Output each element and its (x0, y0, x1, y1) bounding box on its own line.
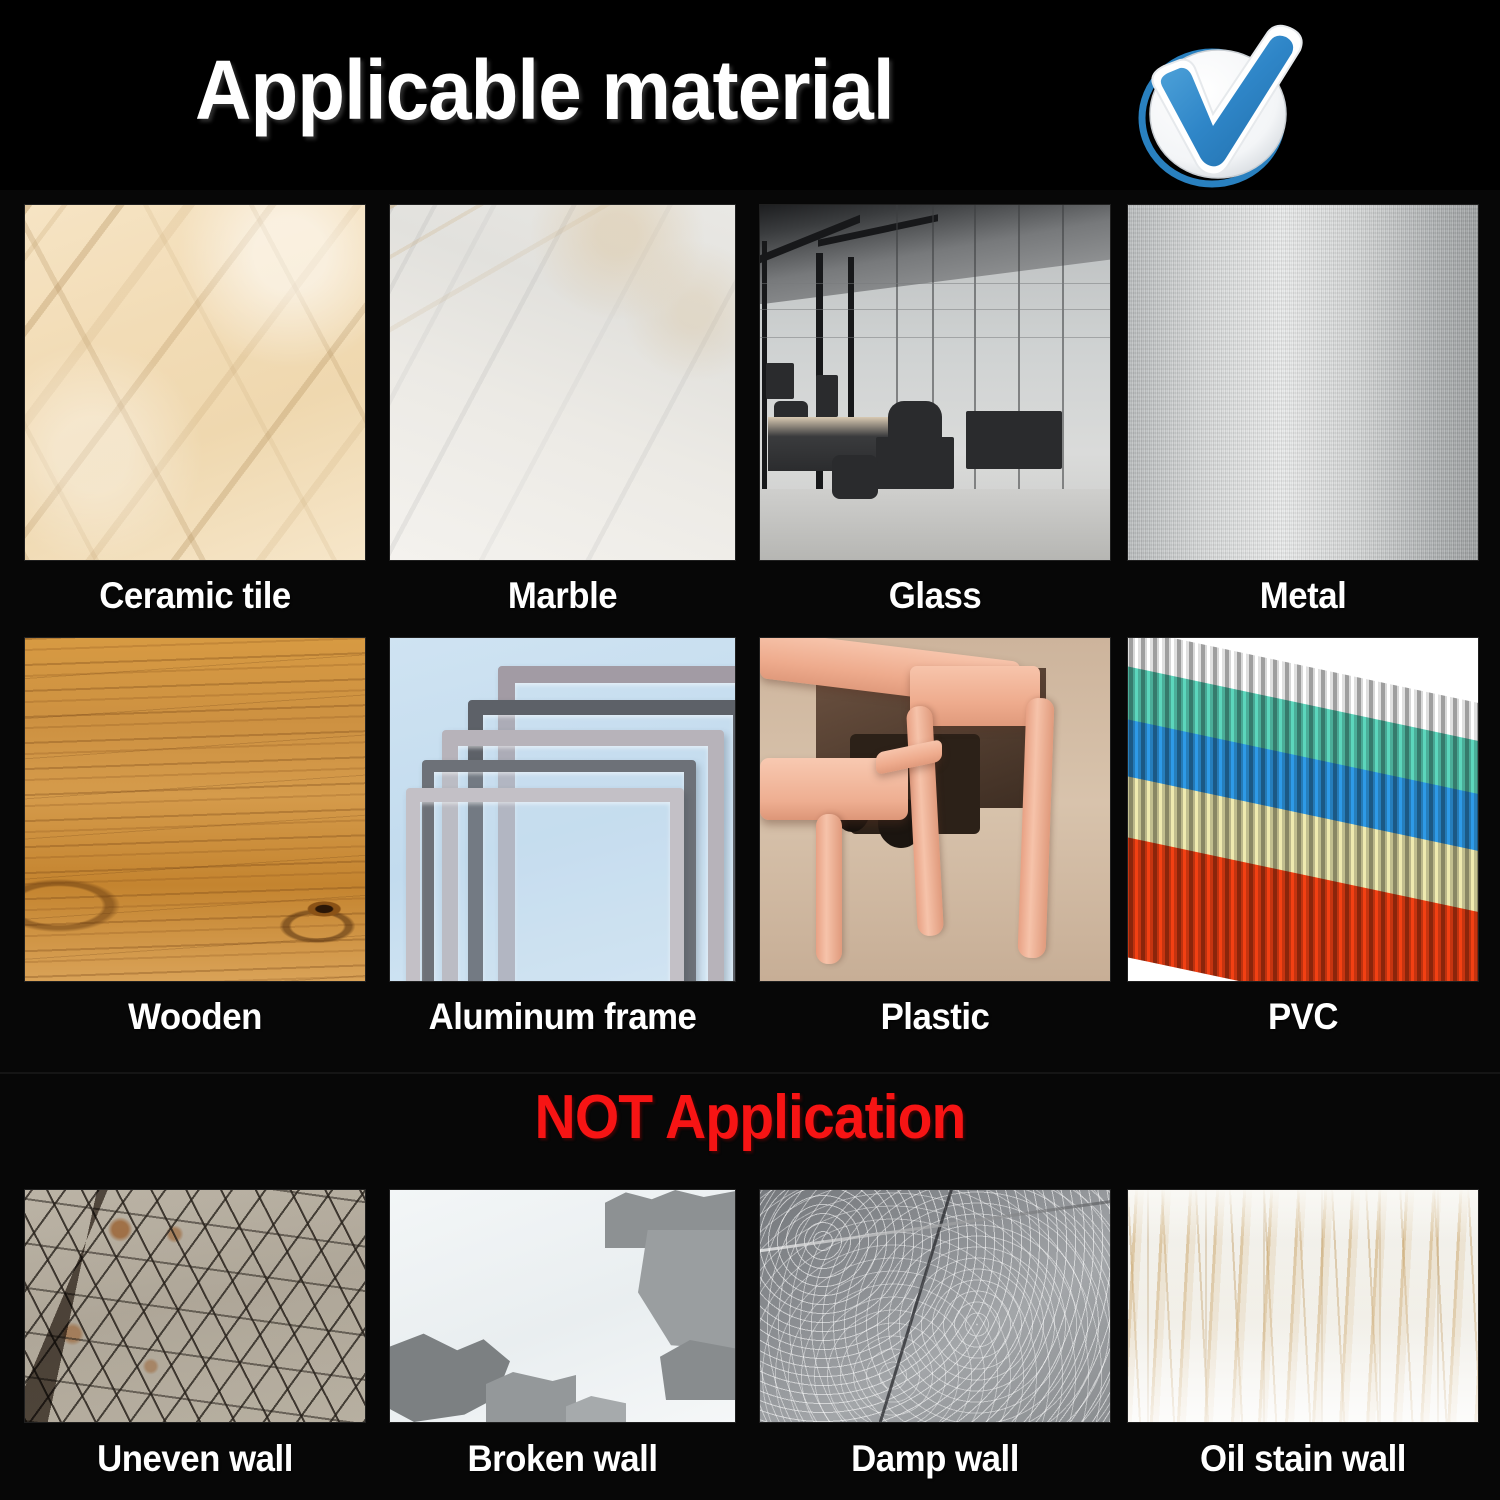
material-label-metal: Metal (1139, 575, 1468, 617)
material-label-broken-wall: Broken wall (400, 1438, 724, 1480)
not-applicable-row: Uneven wall Broken wall (0, 1190, 1500, 1500)
oil-stain-wall-thumbnail[interactable] (1128, 1190, 1478, 1422)
material-label-uneven-wall: Uneven wall (35, 1438, 355, 1480)
material-label-marble: Marble (400, 575, 724, 617)
marble-thumbnail[interactable] (390, 205, 735, 560)
material-label-ceramic-tile: Ceramic tile (35, 575, 355, 617)
material-label-pvc: PVC (1139, 996, 1468, 1038)
blue-checkmark-badge-icon (1118, 22, 1318, 194)
applicable-material-infographic: Applicable material (0, 0, 1500, 1500)
pvc-thumbnail[interactable] (1128, 638, 1478, 981)
not-application-title: NOT Application (60, 1082, 1440, 1153)
section-divider (0, 1072, 1500, 1074)
material-label-glass: Glass (771, 575, 1100, 617)
header-bar: Applicable material (0, 0, 1500, 190)
applicable-row-1: Ceramic tile Marble (0, 205, 1500, 635)
material-label-damp-wall: Damp wall (771, 1438, 1100, 1480)
metal-thumbnail[interactable] (1128, 205, 1478, 560)
broken-wall-thumbnail[interactable] (390, 1190, 735, 1422)
wooden-thumbnail[interactable] (25, 638, 365, 981)
material-label-plastic: Plastic (771, 996, 1100, 1038)
glass-thumbnail[interactable] (760, 205, 1110, 560)
material-label-wooden: Wooden (35, 996, 355, 1038)
aluminum-frame-thumbnail[interactable] (390, 638, 735, 981)
page-title: Applicable material (195, 42, 894, 139)
material-label-aluminum-frame: Aluminum frame (400, 996, 724, 1038)
plastic-thumbnail[interactable] (760, 638, 1110, 981)
ceramic-tile-thumbnail[interactable] (25, 205, 365, 560)
material-label-oil-stain-wall: Oil stain wall (1139, 1438, 1468, 1480)
uneven-wall-thumbnail[interactable] (25, 1190, 365, 1422)
damp-wall-thumbnail[interactable] (760, 1190, 1110, 1422)
applicable-row-2: Wooden Aluminum frame (0, 638, 1500, 1068)
